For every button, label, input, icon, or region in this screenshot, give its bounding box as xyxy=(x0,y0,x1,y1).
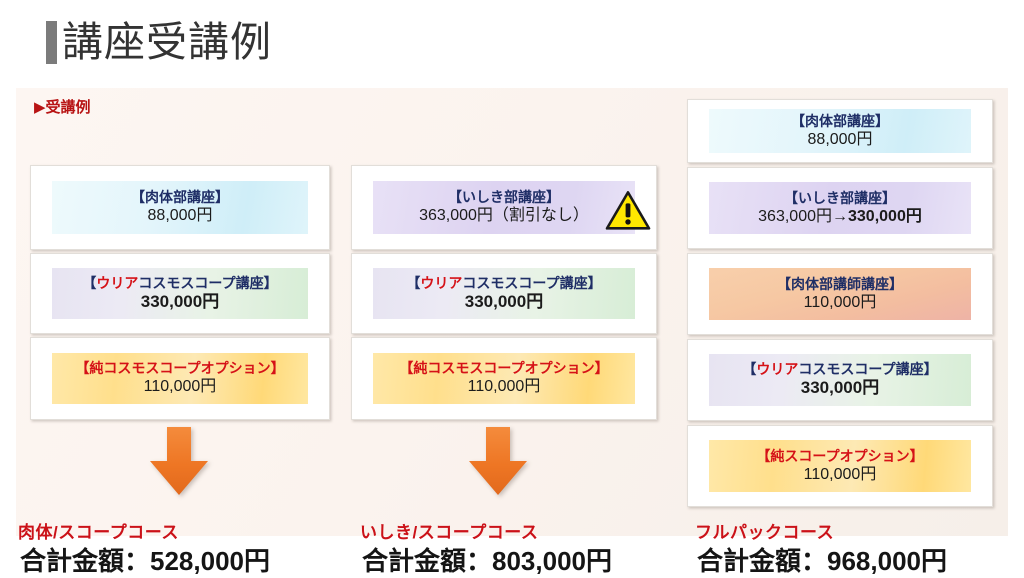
down-arrow-icon xyxy=(148,425,210,497)
down-arrow-icon xyxy=(467,425,529,497)
card-title: 【肉体部講師講座】 xyxy=(777,276,903,293)
card-nikutaibu-kouza[interactable]: 【肉体部講座】 88,000円 xyxy=(687,99,993,163)
card-price: 110,000円 xyxy=(144,377,217,397)
card-band: 【いしき部講座】 363,000円（割引なし） xyxy=(373,181,634,234)
card-title: 【いしき部講座】 xyxy=(448,189,560,206)
warning-triangle-icon xyxy=(605,190,651,232)
card-ishikibu-kouza[interactable]: 【いしき部講座】 363,000円（割引なし） xyxy=(351,165,657,250)
card-jun-cosmoscope-option[interactable]: 【純コスモスコープオプション】 110,000円 xyxy=(351,337,657,420)
page-title: 講座受講例 xyxy=(46,12,272,72)
card-title-pre: 【 xyxy=(742,361,756,377)
card-price-before: 363,000円→ xyxy=(758,208,848,225)
card-title-pre: 【 xyxy=(406,275,420,291)
card-price: 88,000円 xyxy=(808,130,873,150)
card-title: 【純スコープオプション】 xyxy=(756,448,923,465)
card-band: 【いしき部講座】 363,000円→330,000円 xyxy=(709,182,970,233)
card-price: 110,000円 xyxy=(804,465,877,485)
section-label: ▶受講例 xyxy=(34,96,91,117)
card-band: 【ウリアコスモスコープ講座】 330,000円 xyxy=(709,354,970,405)
card-title-highlight: ウリア xyxy=(420,275,462,291)
card-title-post: コスモスコープ講座】 xyxy=(798,361,937,377)
card-band: 【ウリアコスモスコープ講座】 330,000円 xyxy=(52,268,308,319)
card-nikutaibu-kouza[interactable]: 【肉体部講座】 88,000円 xyxy=(30,165,330,250)
page-title-text: 講座受講例 xyxy=(62,22,272,63)
card-uria-cosmoscope-kouza[interactable]: 【ウリアコスモスコープ講座】 330,000円 xyxy=(351,253,657,334)
card-uria-cosmoscope-kouza[interactable]: 【ウリアコスモスコープ講座】 330,000円 xyxy=(30,253,330,334)
card-title: 【肉体部講座】 xyxy=(131,189,229,206)
card-ishikibu-kouza-discounted[interactable]: 【いしき部講座】 363,000円→330,000円 xyxy=(687,167,993,249)
card-price: 330,000円 xyxy=(465,292,543,313)
card-uria-cosmoscope-kouza[interactable]: 【ウリアコスモスコープ講座】 330,000円 xyxy=(687,339,993,421)
card-title-highlight: ウリア xyxy=(96,275,138,291)
card-title-post: コスモスコープ講座】 xyxy=(138,275,277,291)
card-title-post: コスモスコープ講座】 xyxy=(462,275,601,291)
card-title-highlight: ウリア xyxy=(756,361,798,377)
card-title: 【ウリアコスモスコープ講座】 xyxy=(742,361,937,378)
card-band: 【純コスモスコープオプション】 110,000円 xyxy=(373,353,634,405)
card-band: 【肉体部講座】 88,000円 xyxy=(709,109,970,154)
footer-course-name-nikutai-scope: 肉体/スコープコース xyxy=(18,518,179,543)
card-price: 363,000円（割引なし） xyxy=(419,206,589,226)
card-nikutaibu-koushi-kouza[interactable]: 【肉体部講師講座】 110,000円 xyxy=(687,253,993,335)
card-band: 【肉体部講師講座】 110,000円 xyxy=(709,268,970,319)
card-title: 【肉体部講座】 xyxy=(791,113,889,130)
card-jun-cosmoscope-option[interactable]: 【純コスモスコープオプション】 110,000円 xyxy=(30,337,330,420)
card-price-after: 330,000円 xyxy=(848,208,922,225)
card-title: 【ウリアコスモスコープ講座】 xyxy=(82,275,277,292)
footer-course-name-ishiki-scope: いしき/スコープコース xyxy=(360,518,538,543)
card-price: 363,000円→330,000円 xyxy=(758,207,922,227)
card-title: 【純コスモスコープオプション】 xyxy=(399,360,608,377)
footer-total-full-pack: 合計金額：968,000円 xyxy=(697,541,947,578)
footer-course-name-full-pack: フルパックコース xyxy=(695,518,834,543)
card-band: 【ウリアコスモスコープ講座】 330,000円 xyxy=(373,268,634,319)
title-accent-bar xyxy=(46,21,57,64)
card-title: 【純コスモスコープオプション】 xyxy=(75,360,284,377)
card-jun-scope-option[interactable]: 【純スコープオプション】 110,000円 xyxy=(687,425,993,507)
card-price: 110,000円 xyxy=(468,377,541,397)
card-band: 【肉体部講座】 88,000円 xyxy=(52,181,308,234)
card-band: 【純スコープオプション】 110,000円 xyxy=(709,440,970,491)
footer-total-ishiki-scope: 合計金額：803,000円 xyxy=(362,541,612,578)
footer-total-nikutai-scope: 合計金額：528,000円 xyxy=(20,541,270,578)
card-title: 【ウリアコスモスコープ講座】 xyxy=(406,275,601,292)
card-price: 330,000円 xyxy=(141,292,219,313)
card-band: 【純コスモスコープオプション】 110,000円 xyxy=(52,353,308,405)
card-price: 330,000円 xyxy=(801,378,879,399)
card-title: 【いしき部講座】 xyxy=(784,190,896,207)
card-title-pre: 【 xyxy=(82,275,96,291)
card-price: 88,000円 xyxy=(148,206,213,226)
card-price: 110,000円 xyxy=(804,293,877,313)
